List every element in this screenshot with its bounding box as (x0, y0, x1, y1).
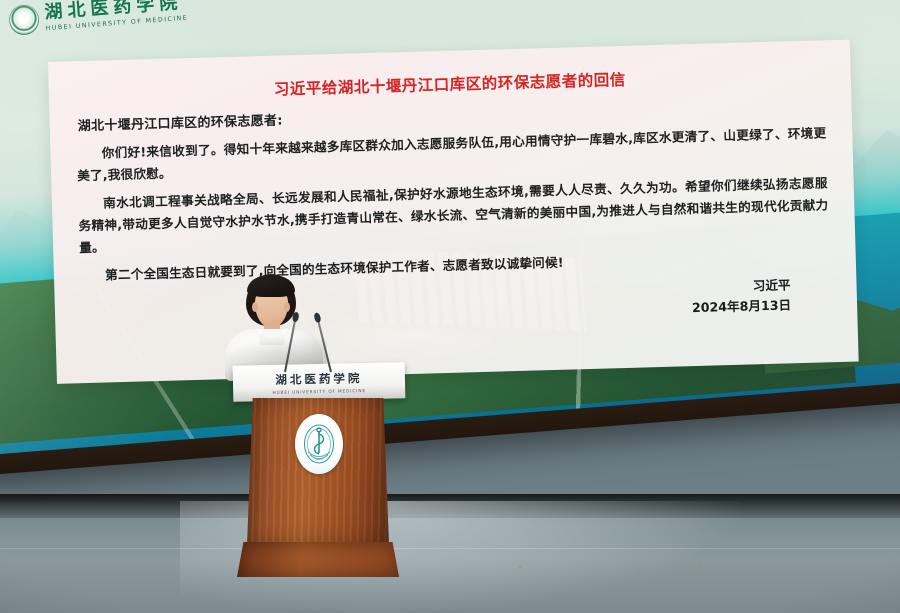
speaker-ear (252, 302, 258, 312)
floor-specks (0, 559, 900, 585)
podium-name-cn: 湖北医药学院 (275, 370, 362, 388)
stage-floor (0, 501, 900, 613)
letter-paragraph-2: 南水北调工程事关战略全局、长远发展和人民福祉,保护好水源地生态环境,需要人人尽责… (78, 173, 830, 259)
podium-name-en: HUBEI UNIVERSITY OF MEDICINE (272, 388, 365, 395)
podium-nameplate: 湖北医药学院 HUBEI UNIVERSITY OF MEDICINE (233, 362, 406, 402)
speaker-fringe (247, 275, 295, 297)
podium-base (237, 542, 399, 577)
letter-panel: 习近平给湖北十堰丹江口库区的环保志愿者的回信 湖北十堰丹江口库区的环保志愿者: … (48, 40, 859, 384)
podium-emblem-icon (295, 414, 343, 474)
speaker-ear (284, 302, 290, 312)
floor-seam (0, 548, 900, 549)
podium: 湖北医药学院 HUBEI UNIVERSITY OF MEDICINE (233, 364, 405, 577)
university-seal-icon (8, 4, 40, 36)
speaker-person (213, 274, 341, 376)
photo-scene: 习近平给湖北十堰丹江口库区的环保志愿者的回信 湖北十堰丹江口库区的环保志愿者: … (0, 0, 900, 613)
